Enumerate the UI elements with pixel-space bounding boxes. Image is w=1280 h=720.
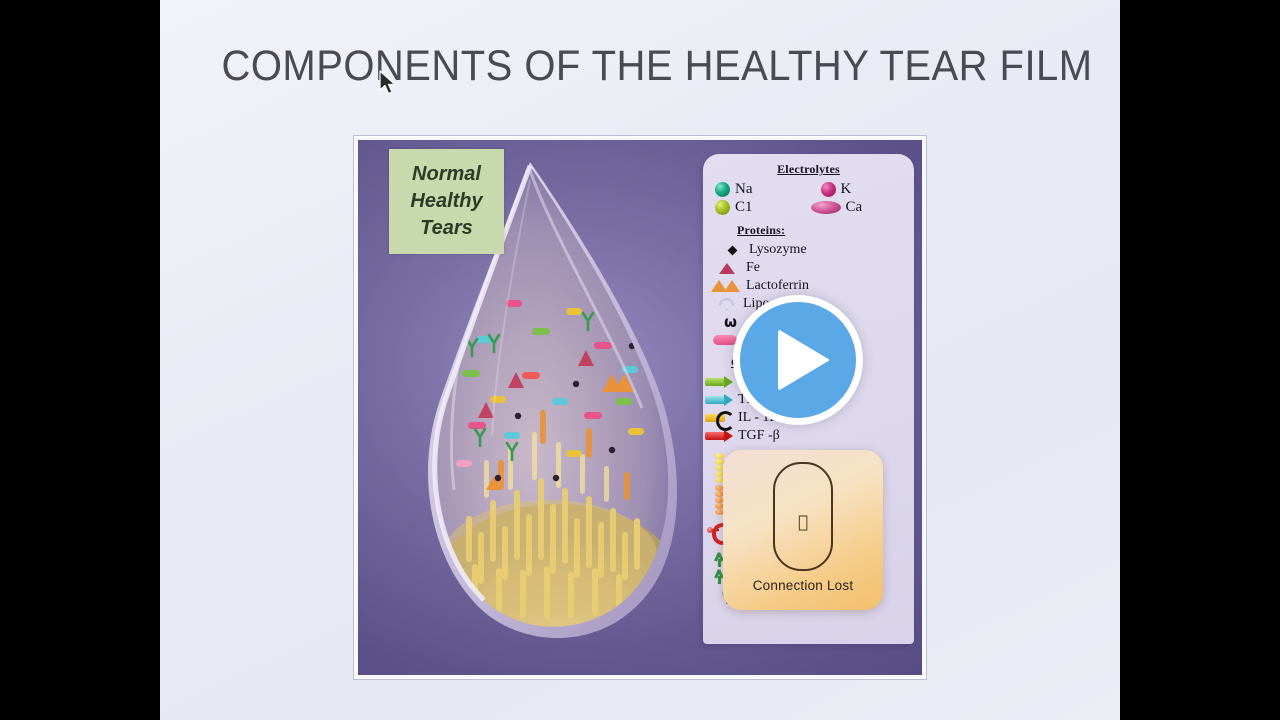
yellow-sphere-icon: [715, 200, 730, 215]
legend-heading-electrolytes: Electrolytes: [703, 162, 914, 177]
green-arrow-icon: [705, 376, 733, 388]
tear-film-diagram: Normal Healthy Tears Electrolytes Na: [358, 140, 922, 675]
pink-ellipse-icon: [811, 201, 841, 214]
normal-healthy-tears-label: Normal Healthy Tears: [389, 149, 504, 254]
legend-label-lysozyme: Lysozyme: [749, 243, 807, 257]
legend-label-na: Na: [735, 182, 753, 197]
cyan-arrow-icon: [705, 394, 733, 406]
apple-logo-icon: : [798, 514, 808, 531]
legend-item-lactoferrin: Lactoferrin: [703, 277, 914, 295]
legend-label-cl: C1: [735, 200, 753, 215]
label-line-1: Normal: [412, 161, 481, 188]
legend-item-na: Na: [703, 180, 809, 198]
legend-label-fe: Fe: [746, 261, 760, 275]
yellow-c-icon: [705, 412, 733, 424]
label-line-2: Healthy: [410, 188, 482, 215]
play-button[interactable]: [733, 295, 863, 425]
letterbox-left: [0, 0, 160, 720]
page-title: COMPONENTS OF THE HEALTHY TEAR FILM: [222, 42, 1059, 91]
legend-item-cl: C1: [703, 198, 809, 216]
legend-item-tgfb: TGF -β: [703, 427, 914, 445]
omega-symbol-icon: ω: [724, 313, 737, 331]
orange-peaks-icon: [711, 280, 741, 292]
legend-label-tgfb: TGF -β: [738, 429, 780, 443]
figure-frame: Normal Healthy Tears Electrolytes Na: [353, 135, 927, 680]
green-sphere-icon: [715, 182, 730, 197]
legend-label-k: K: [841, 182, 852, 197]
legend-item-fe: Fe: [703, 259, 914, 277]
pink-capsule-icon: [713, 335, 737, 345]
legend-label-ca: Ca: [846, 200, 863, 215]
shield-outline-icon: [719, 298, 734, 311]
slide-canvas: COMPONENTS OF THE HEALTHY TEAR FILM: [160, 0, 1120, 720]
legend-label-lactoferrin: Lactoferrin: [746, 279, 809, 293]
magic-mouse-icon: : [773, 462, 833, 571]
black-diamond-icon: [728, 245, 738, 255]
magenta-sphere-icon: [821, 182, 836, 197]
pointer-arrow-icon: [378, 70, 398, 98]
legend-item-ca: Ca: [809, 198, 915, 216]
connection-lost-toast:  Connection Lost: [723, 450, 883, 610]
connection-lost-message: Connection Lost: [753, 578, 854, 593]
letterbox-right: [1120, 0, 1280, 720]
label-line-3: Tears: [420, 215, 473, 242]
red-triangle-icon: [719, 263, 735, 274]
legend-item-lysozyme: Lysozyme: [703, 241, 914, 259]
red-arrow-icon: [705, 430, 733, 442]
legend-item-k: K: [809, 180, 915, 198]
legend-heading-proteins: Proteins:: [703, 223, 914, 238]
play-icon: [778, 329, 830, 391]
